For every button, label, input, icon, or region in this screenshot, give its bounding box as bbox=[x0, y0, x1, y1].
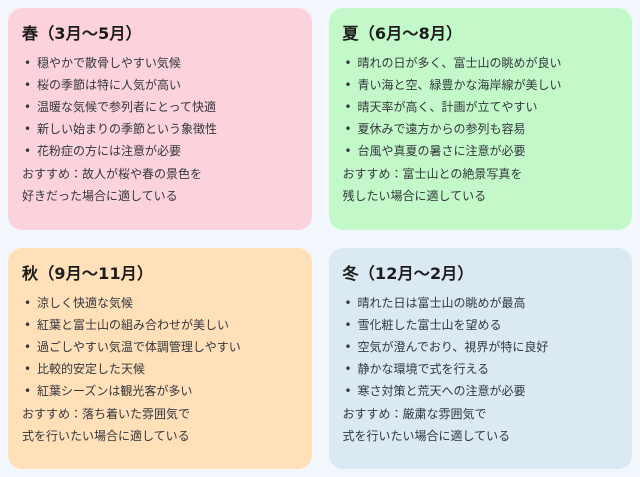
list-item: • 紅葉シーズンは観光客が多い bbox=[22, 380, 296, 402]
bullet-icon: • bbox=[24, 358, 31, 380]
season-card-title: 夏（6月〜8月） bbox=[343, 22, 617, 46]
bullet-icon: • bbox=[24, 380, 31, 402]
feature-text: 晴れた日は富士山の眺めが最高 bbox=[358, 296, 526, 310]
bullet-icon: • bbox=[345, 52, 352, 74]
bullet-icon: • bbox=[345, 314, 352, 336]
feature-text: 寒さ対策と荒天への注意が必要 bbox=[358, 384, 526, 398]
list-item: • 桜の季節は特に人気が高い bbox=[22, 74, 296, 96]
bullet-icon: • bbox=[24, 118, 31, 140]
list-item: • 晴天率が高く、計画が立てやすい bbox=[343, 96, 617, 118]
feature-text: 晴れの日が多く、富士山の眺めが良い bbox=[358, 56, 562, 70]
bullet-icon: • bbox=[345, 74, 352, 96]
list-item: • 過ごしやすい気温で体調管理しやすい bbox=[22, 336, 296, 358]
bullet-icon: • bbox=[345, 96, 352, 118]
list-item: • 比較的安定した天候 bbox=[22, 358, 296, 380]
recommendation-line: おすすめ：落ち着いた雰囲気で bbox=[22, 403, 296, 425]
season-card-spring: 春（3月〜5月） • 穏やかで散骨しやすい気候 • 桜の季節は特に人気が高い •… bbox=[8, 8, 312, 230]
season-card-summer: 夏（6月〜8月） • 晴れの日が多く、富士山の眺めが良い • 青い海と空、緑豊か… bbox=[329, 8, 633, 230]
feature-text: 桜の季節は特に人気が高い bbox=[37, 78, 181, 92]
list-item: • 空気が澄んでおり、視界が特に良好 bbox=[343, 336, 617, 358]
season-feature-list: • 涼しく快適な気候 • 紅葉と富士山の組み合わせが美しい • 過ごしやすい気温… bbox=[22, 292, 296, 402]
list-item: • 花粉症の方には注意が必要 bbox=[22, 140, 296, 162]
season-card-title: 冬（12月〜2月） bbox=[343, 262, 617, 286]
bullet-icon: • bbox=[24, 292, 31, 314]
feature-text: 温暖な気候で参列者にとって快適 bbox=[37, 100, 216, 114]
list-item: • 穏やかで散骨しやすい気候 bbox=[22, 52, 296, 74]
feature-text: 新しい始まりの季節という象徴性 bbox=[37, 122, 217, 136]
feature-text: 涼しく快適な気候 bbox=[37, 296, 133, 310]
list-item: • 新しい始まりの季節という象徴性 bbox=[22, 118, 296, 140]
recommendation-line: おすすめ：故人が桜や春の景色を bbox=[22, 163, 296, 185]
season-recommendation: おすすめ：故人が桜や春の景色を 好きだった場合に適している bbox=[22, 163, 296, 207]
bullet-icon: • bbox=[24, 140, 31, 162]
list-item: • 寒さ対策と荒天への注意が必要 bbox=[343, 380, 617, 402]
season-card-winter: 冬（12月〜2月） • 晴れた日は富士山の眺めが最高 • 雪化粧した富士山を望め… bbox=[329, 248, 633, 470]
season-card-autumn: 秋（9月〜11月） • 涼しく快適な気候 • 紅葉と富士山の組み合わせが美しい … bbox=[8, 248, 312, 470]
season-feature-list: • 穏やかで散骨しやすい気候 • 桜の季節は特に人気が高い • 温暖な気候で参列… bbox=[22, 52, 296, 162]
bullet-icon: • bbox=[24, 336, 31, 358]
feature-text: 静かな環境で式を行える bbox=[358, 362, 490, 376]
season-card-title: 春（3月〜5月） bbox=[22, 22, 296, 46]
season-recommendation: おすすめ：落ち着いた雰囲気で 式を行いたい場合に適している bbox=[22, 403, 296, 447]
season-comparison-grid: 春（3月〜5月） • 穏やかで散骨しやすい気候 • 桜の季節は特に人気が高い •… bbox=[0, 0, 640, 477]
list-item: • 台風や真夏の暑さに注意が必要 bbox=[343, 140, 617, 162]
list-item: • 静かな環境で式を行える bbox=[343, 358, 617, 380]
feature-text: 雪化粧した富士山を望める bbox=[358, 318, 502, 332]
recommendation-line: おすすめ：富士山との絶景写真を bbox=[343, 163, 617, 185]
bullet-icon: • bbox=[345, 380, 352, 402]
feature-text: 過ごしやすい気温で体調管理しやすい bbox=[37, 340, 241, 354]
recommendation-line: 式を行いたい場合に適している bbox=[22, 425, 296, 447]
bullet-icon: • bbox=[24, 314, 31, 336]
bullet-icon: • bbox=[345, 292, 352, 314]
bullet-icon: • bbox=[24, 96, 31, 118]
feature-text: 空気が澄んでおり、視界が特に良好 bbox=[358, 340, 549, 354]
recommendation-line: 式を行いたい場合に適している bbox=[343, 425, 617, 447]
list-item: • 涼しく快適な気候 bbox=[22, 292, 296, 314]
season-feature-list: • 晴れた日は富士山の眺めが最高 • 雪化粧した富士山を望める • 空気が澄んで… bbox=[343, 292, 617, 402]
bullet-icon: • bbox=[345, 336, 352, 358]
season-recommendation: おすすめ：厳粛な雰囲気で 式を行いたい場合に適している bbox=[343, 403, 617, 447]
list-item: • 雪化粧した富士山を望める bbox=[343, 314, 617, 336]
bullet-icon: • bbox=[345, 140, 352, 162]
bullet-icon: • bbox=[24, 74, 31, 96]
feature-text: 花粉症の方には注意が必要 bbox=[37, 144, 181, 158]
bullet-icon: • bbox=[24, 52, 31, 74]
list-item: • 紅葉と富士山の組み合わせが美しい bbox=[22, 314, 296, 336]
feature-text: 夏休みで遠方からの参列も容易 bbox=[358, 122, 526, 136]
bullet-icon: • bbox=[345, 358, 352, 380]
feature-text: 台風や真夏の暑さに注意が必要 bbox=[358, 144, 526, 158]
feature-text: 比較的安定した天候 bbox=[37, 362, 145, 376]
feature-text: 青い海と空、緑豊かな海岸線が美しい bbox=[358, 78, 562, 92]
season-recommendation: おすすめ：富士山との絶景写真を 残したい場合に適している bbox=[343, 163, 617, 207]
recommendation-line: 好きだった場合に適している bbox=[22, 185, 296, 207]
feature-text: 紅葉シーズンは観光客が多い bbox=[37, 384, 192, 398]
season-feature-list: • 晴れの日が多く、富士山の眺めが良い • 青い海と空、緑豊かな海岸線が美しい … bbox=[343, 52, 617, 162]
feature-text: 晴天率が高く、計画が立てやすい bbox=[358, 100, 538, 114]
list-item: • 青い海と空、緑豊かな海岸線が美しい bbox=[343, 74, 617, 96]
feature-text: 穏やかで散骨しやすい気候 bbox=[37, 56, 181, 70]
list-item: • 夏休みで遠方からの参列も容易 bbox=[343, 118, 617, 140]
list-item: • 晴れの日が多く、富士山の眺めが良い bbox=[343, 52, 617, 74]
list-item: • 温暖な気候で参列者にとって快適 bbox=[22, 96, 296, 118]
feature-text: 紅葉と富士山の組み合わせが美しい bbox=[37, 318, 229, 332]
list-item: • 晴れた日は富士山の眺めが最高 bbox=[343, 292, 617, 314]
bullet-icon: • bbox=[345, 118, 352, 140]
recommendation-line: おすすめ：厳粛な雰囲気で bbox=[343, 403, 617, 425]
season-card-title: 秋（9月〜11月） bbox=[22, 262, 296, 286]
recommendation-line: 残したい場合に適している bbox=[343, 185, 617, 207]
